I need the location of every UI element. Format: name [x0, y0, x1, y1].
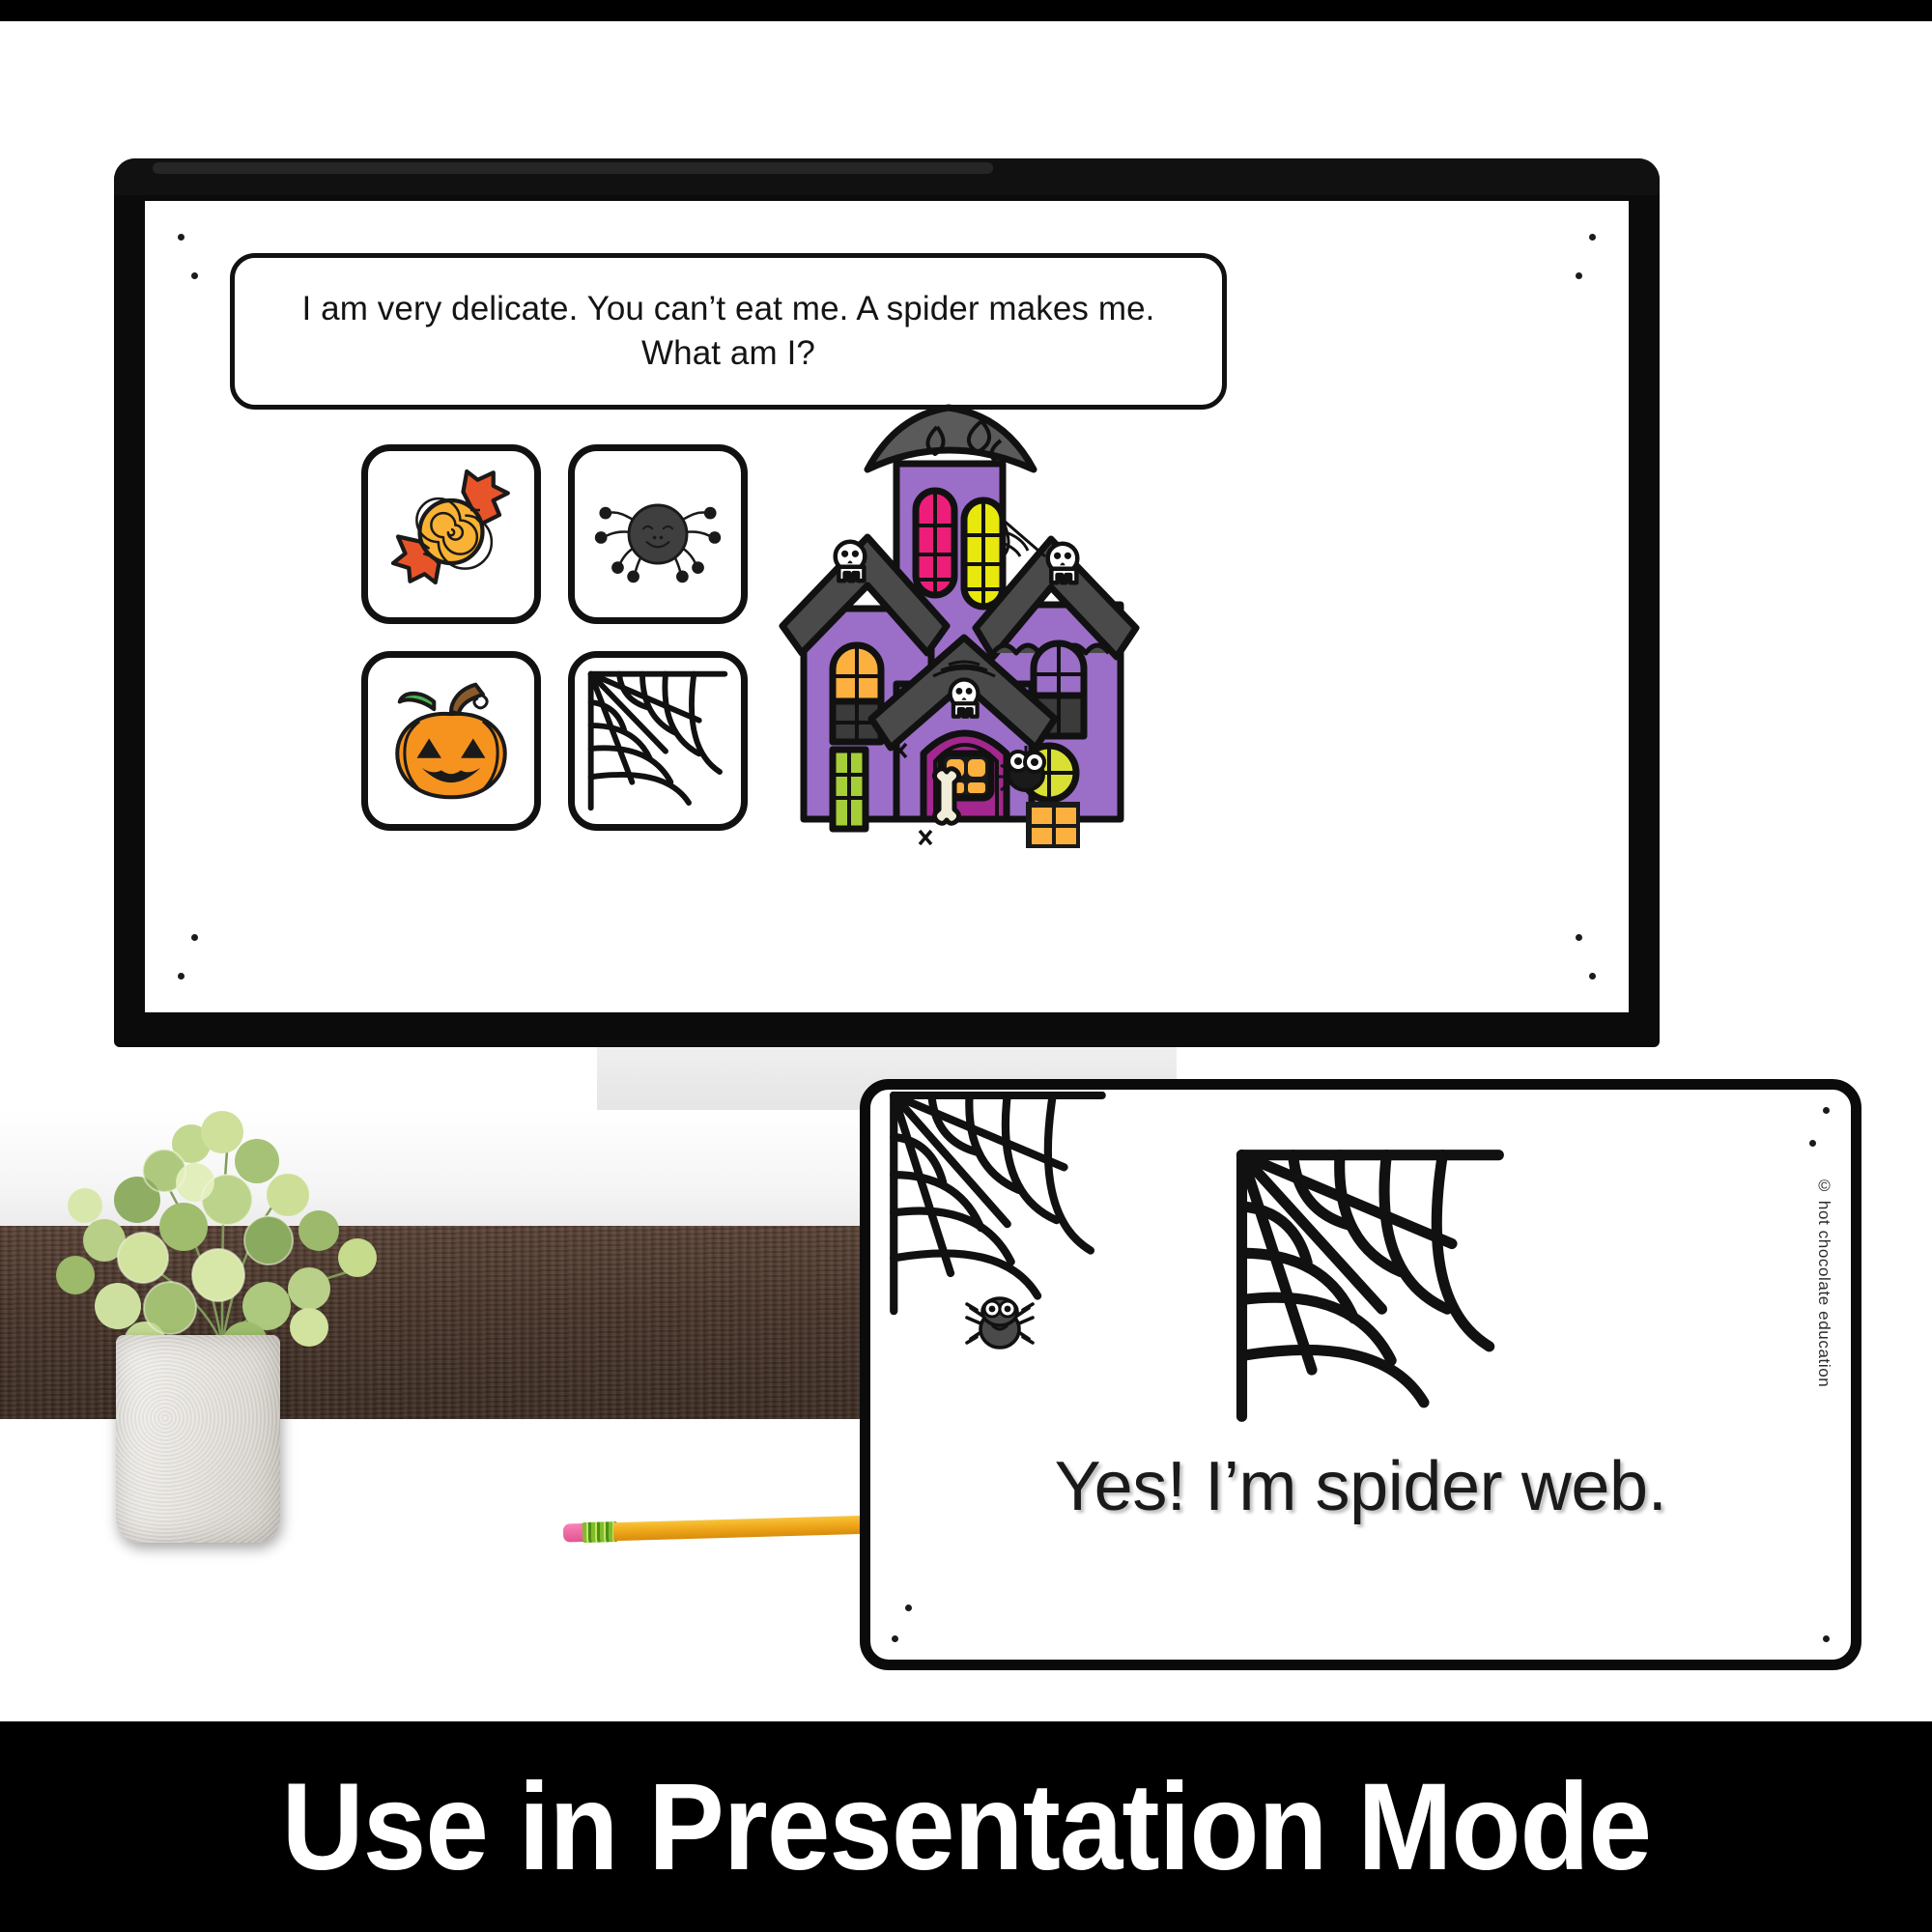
answer-option-spider-web[interactable] — [568, 651, 748, 831]
answer-text: Yes! I’m spider web. — [870, 1447, 1851, 1526]
corner-dot-icon — [191, 934, 198, 941]
corner-dot-icon — [905, 1605, 912, 1611]
potted-plant-foliage — [29, 1016, 415, 1364]
corner-dot-icon — [1589, 973, 1596, 980]
desktop-monitor: I am very delicate. You can’t eat me. A … — [114, 158, 1660, 1115]
corner-dot-icon — [1823, 1107, 1830, 1114]
screenshot-root: I am very delicate. You can’t eat me. A … — [0, 0, 1932, 1932]
answer-card[interactable]: Yes! I’m spider web. © hot chocolate edu… — [860, 1079, 1861, 1670]
corner-dot-icon — [892, 1635, 898, 1642]
plant-pot — [116, 1335, 280, 1543]
pumpkin-icon — [378, 668, 525, 814]
corner-dot-icon — [191, 272, 198, 279]
spider-web-icon — [581, 664, 735, 818]
haunted-house-icon — [744, 394, 1179, 877]
corner-dot-icon — [178, 234, 185, 241]
corner-dot-icon — [1576, 934, 1582, 941]
presentation-slide[interactable]: I am very delicate. You can’t eat me. A … — [145, 201, 1629, 1012]
copyright-notice: © hot chocolate education — [1814, 1177, 1833, 1387]
monitor-top-strip — [114, 158, 1660, 195]
spider-icon — [585, 472, 730, 596]
content-plate: I am very delicate. You can’t eat me. A … — [0, 21, 1932, 1721]
bottom-banner: Use in Presentation Mode — [0, 1721, 1932, 1932]
haunted-house-illustration — [744, 394, 1179, 877]
corner-dot-icon — [178, 973, 185, 980]
spider-icon — [948, 1283, 1054, 1360]
pencil — [555, 1509, 890, 1549]
monitor-highlight — [153, 162, 993, 174]
eucalyptus-plant-icon — [29, 1016, 415, 1364]
answer-options-grid — [361, 444, 734, 819]
corner-dot-icon — [1809, 1140, 1816, 1147]
corner-dot-icon — [1589, 234, 1596, 241]
pencil-body — [613, 1515, 892, 1541]
hanging-spider-decoration — [948, 1283, 1054, 1360]
answer-option-spider[interactable] — [568, 444, 748, 624]
corner-dot-icon — [1576, 272, 1582, 279]
answer-option-pumpkin[interactable] — [361, 651, 541, 831]
corner-dot-icon — [1823, 1635, 1830, 1642]
answer-option-candy[interactable] — [361, 444, 541, 624]
question-text: I am very delicate. You can’t eat me. A … — [235, 287, 1222, 376]
spider-web-icon — [1228, 1146, 1508, 1426]
candy-icon — [379, 462, 524, 607]
question-box: I am very delicate. You can’t eat me. A … — [230, 253, 1227, 410]
banner-text: Use in Presentation Mode — [281, 1756, 1650, 1898]
answer-image-spider-web — [1228, 1146, 1508, 1426]
monitor-bezel: I am very delicate. You can’t eat me. A … — [114, 158, 1660, 1047]
